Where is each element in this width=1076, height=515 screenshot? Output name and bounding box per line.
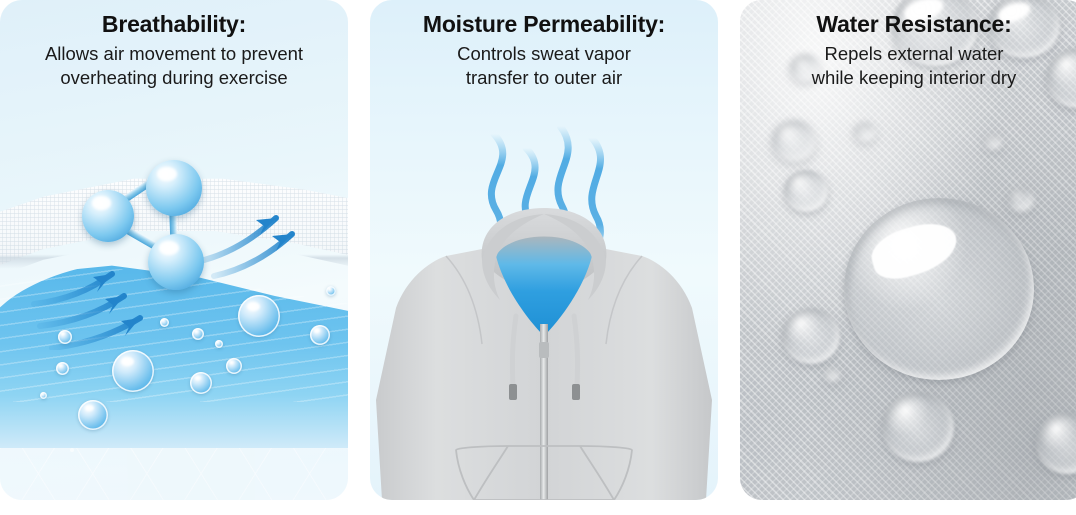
- panel-subtitle-line2: while keeping interior dry: [748, 66, 1076, 90]
- panel-subtitle-line2: transfer to outer air: [378, 66, 710, 90]
- panel-moisture-permeability: Moisture Permeability: Controls sweat va…: [370, 0, 718, 500]
- hoodie-graphic: [370, 204, 718, 500]
- panel-subtitle-line2: overheating during exercise: [8, 66, 340, 90]
- panel-title: Moisture Permeability:: [378, 12, 710, 37]
- panel-caption: Breathability: Allows air movement to pr…: [0, 0, 348, 90]
- panel-subtitle-line1: Allows air movement to prevent: [8, 42, 340, 66]
- panel-subtitle-line1: Controls sweat vapor: [378, 42, 710, 66]
- panel-caption: Moisture Permeability: Controls sweat va…: [370, 0, 718, 90]
- panel-title: Breathability:: [8, 12, 340, 37]
- panel-breathability: Breathability: Allows air movement to pr…: [0, 0, 348, 500]
- panel-caption: Water Resistance: Repels external water …: [740, 0, 1076, 90]
- panel-water-resistance: Water Resistance: Repels external water …: [740, 0, 1076, 500]
- panel-subtitle-line1: Repels external water: [748, 42, 1076, 66]
- panel-title: Water Resistance:: [748, 12, 1076, 37]
- feature-panels-board: Breathability: Allows air movement to pr…: [0, 0, 1076, 515]
